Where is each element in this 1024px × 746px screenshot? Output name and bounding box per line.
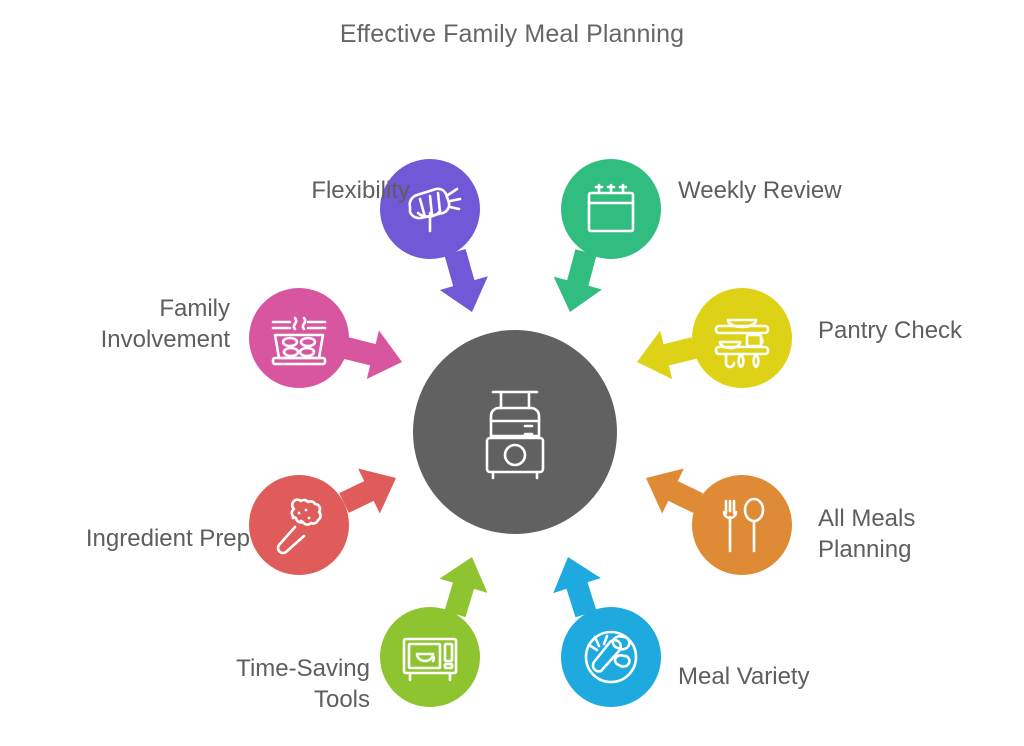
diagram-canvas: Effective Family Meal Planning Flexibili… [0, 0, 1024, 746]
node-label-flexibility: Flexibility [240, 176, 410, 207]
node-all-meals-planning[interactable] [692, 475, 792, 575]
hub-circle [413, 330, 617, 534]
node-family-involvement[interactable] [249, 288, 349, 388]
node-circle-all-meals-planning [692, 475, 792, 575]
node-label-time-saving-tools: Time-Saving Tools [170, 654, 370, 715]
hub-node[interactable] [413, 330, 617, 534]
node-circle-family-involvement [249, 288, 349, 388]
node-circle-time-saving-tools [380, 607, 480, 707]
node-label-family-involvement: Family Involvement [20, 294, 230, 355]
node-time-saving-tools[interactable] [380, 607, 480, 707]
node-label-ingredient-prep: Ingredient Prep [10, 524, 250, 555]
node-ingredient-prep[interactable] [249, 475, 349, 575]
node-circle-weekly-review [561, 159, 661, 259]
node-pantry-check[interactable] [692, 288, 792, 388]
node-meal-variety[interactable] [561, 607, 661, 707]
node-label-pantry-check: Pantry Check [818, 316, 1024, 347]
node-circle-ingredient-prep [249, 475, 349, 575]
node-circle-pantry-check [692, 288, 792, 388]
node-label-all-meals-planning: All Meals Planning [818, 504, 1018, 565]
node-label-weekly-review: Weekly Review [678, 176, 938, 207]
node-circle-meal-variety [561, 607, 661, 707]
node-flexibility[interactable] [380, 159, 480, 259]
node-circle-flexibility [380, 159, 480, 259]
node-weekly-review[interactable] [561, 159, 661, 259]
node-layer [0, 0, 1024, 746]
node-label-meal-variety: Meal Variety [678, 662, 918, 693]
